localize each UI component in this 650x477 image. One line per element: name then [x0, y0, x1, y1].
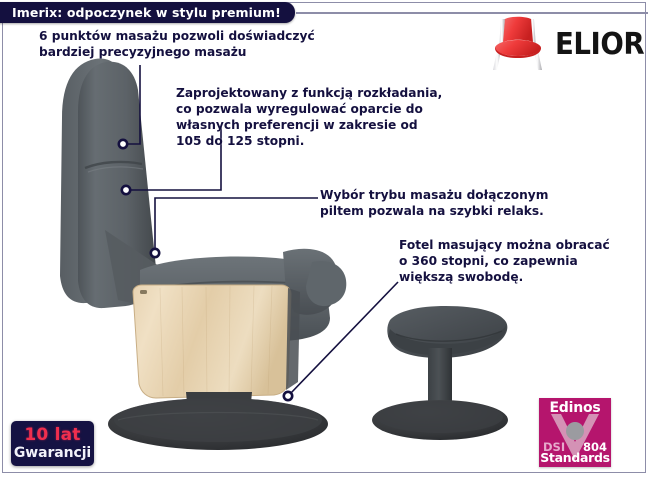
leader-line-4 [290, 282, 398, 394]
page-title: Imerix: odpoczynek w stylu premium! [12, 5, 281, 20]
brand-logo: ELIOR [487, 14, 642, 76]
callout-text-recline-function: Zaprojektowany z funkcją rozkładania, co… [176, 86, 466, 149]
callout-text-massage-points: 6 punktów masażu pozwoli doświadczyć bar… [39, 29, 369, 61]
callout-marker-3 [151, 249, 159, 257]
leader-line-1 [126, 65, 140, 144]
infographic-canvas: Imerix: odpoczynek w stylu premium! [0, 0, 650, 477]
warranty-years: 10 lat [24, 427, 80, 444]
certification-name: Edinos [539, 400, 611, 416]
callout-marker-2 [122, 186, 130, 194]
leader-line-3 [155, 198, 318, 250]
certification-badge: Edinos DSI 804 Standards [539, 398, 611, 467]
warranty-label: Gwarancji [14, 446, 91, 460]
callout-text-swivel-360: Fotel masujący można obracać o 360 stopn… [399, 238, 644, 286]
red-chair-icon [487, 15, 549, 75]
warranty-badge: 10 lat Gwarancji [11, 421, 94, 466]
callout-marker-1 [119, 140, 127, 148]
title-banner: Imerix: odpoczynek w stylu premium! [0, 2, 295, 23]
callout-text-massage-mode-remote: Wybór trybu masażu dołączonym piltem poz… [320, 188, 620, 220]
callout-marker-4 [284, 392, 292, 400]
certification-label: Standards [539, 450, 611, 465]
brand-name: ELIOR [555, 30, 644, 60]
